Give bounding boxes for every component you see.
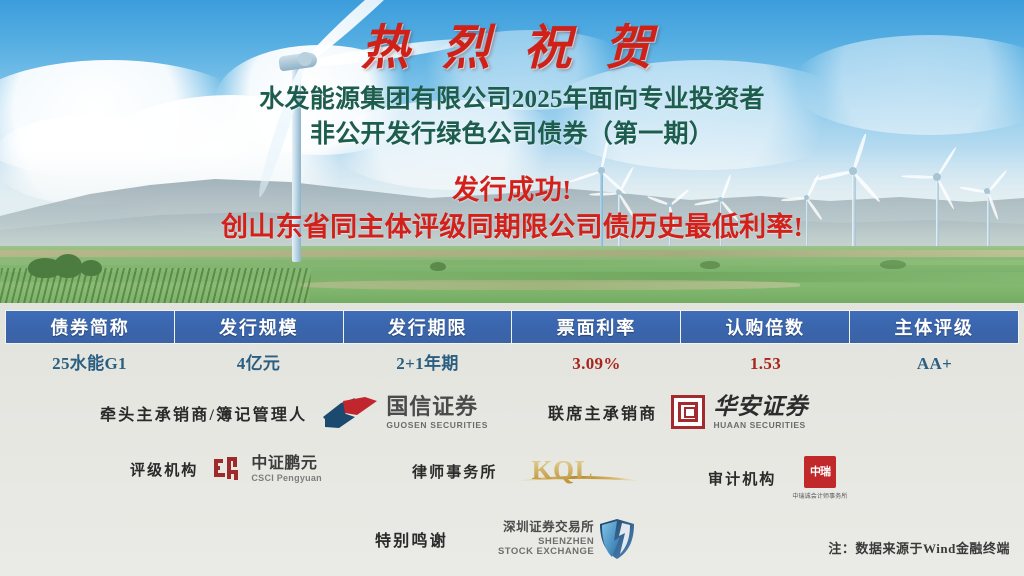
guosen-securities-logo: 国信证券 GUOSEN SECURITIES — [321, 395, 488, 431]
table-header-cell: 票面利率 — [511, 310, 680, 344]
huaan-logo-en: HUAAN SECURITIES — [713, 421, 808, 430]
underwriters-row: 牵头主承销商/簿记管理人 国信证券 GUOSEN SECURITIES — [0, 385, 1024, 437]
table-header-cell: 认购倍数 — [680, 310, 849, 344]
szse-shield-icon — [600, 519, 634, 559]
table-row: 25水能G1 4亿元 2+1年期 3.09% 1.53 AA+ — [5, 344, 1019, 380]
huaan-logo-cn: 华安证券 — [713, 395, 808, 418]
table-header-cell: 主体评级 — [849, 310, 1019, 344]
table-cell-issuer-rating: AA+ — [850, 344, 1019, 380]
zhongruicheng-logo: 中瑞 中瑞诚会计师事务所 — [792, 456, 847, 500]
table-cell-issue-size: 4亿元 — [174, 344, 343, 380]
csci-logo-cn: 中证鹏元 — [251, 456, 322, 472]
special-thanks-group: 特别鸣谢 深圳证券交易所 SHENZHEN STOCK EXCHANGE — [375, 519, 634, 559]
huaan-securities-logo: 华安证券 HUAAN SECURITIES — [671, 395, 808, 430]
kql-logo-text: KQL — [532, 455, 594, 486]
auditor-group: 审计机构 中瑞 中瑞诚会计师事务所 — [708, 456, 848, 500]
bond-subtitle: 水发能源集团有限公司2025年面向专业投资者 非公开发行绿色公司债券（第一期） — [0, 82, 1024, 152]
szse-logo: 深圳证券交易所 SHENZHEN STOCK EXCHANGE — [498, 519, 634, 559]
csci-logo-en: CSCI Pengyuan — [251, 474, 322, 483]
table-header-cell: 发行期限 — [343, 310, 512, 344]
joint-underwriter-label: 联席主承销商 — [548, 400, 657, 424]
szse-logo-en2: STOCK EXCHANGE — [498, 547, 594, 557]
table-cell-coupon-rate: 3.09% — [512, 344, 681, 380]
rating-agency-group: 评级机构 — [130, 456, 322, 483]
joint-underwriter-group: 联席主承销商 华安证券 HUAAN SECURITIES — [548, 395, 808, 430]
guosen-mark-icon — [321, 395, 379, 431]
rating-agency-label: 评级机构 — [130, 459, 198, 480]
page-title: 热 烈 祝 贺 — [0, 8, 1024, 78]
hero-photo-windfarm: 热 烈 祝 贺 水发能源集团有限公司2025年面向专业投资者 非公开发行绿色公司… — [0, 0, 1024, 303]
szse-logo-cn: 深圳证券交易所 — [503, 521, 594, 534]
table-header-cell: 发行规模 — [174, 310, 343, 344]
special-thanks-label: 特别鸣谢 — [375, 527, 448, 551]
data-source-note: 注：数据来源于Wind金融终端 — [828, 538, 1010, 557]
table-header-row: 债券简称 发行规模 发行期限 票面利率 认购倍数 主体评级 — [5, 310, 1019, 344]
csci-mark-icon — [214, 457, 244, 483]
table-cell-tenor: 2+1年期 — [343, 344, 512, 380]
table-cell-subscription-multiple: 1.53 — [681, 344, 850, 380]
auditor-label: 审计机构 — [708, 468, 776, 489]
kql-law-firm-logo: KQL — [514, 456, 644, 486]
info-panel: 债券简称 发行规模 发行期限 票面利率 认购倍数 主体评级 25水能G1 4亿元… — [0, 303, 1024, 576]
guosen-logo-cn: 国信证券 — [386, 396, 488, 418]
table-header-cell: 债券简称 — [5, 310, 174, 344]
huaan-seal-icon — [671, 395, 705, 429]
bond-summary-table: 债券简称 发行规模 发行期限 票面利率 认购倍数 主体评级 25水能G1 4亿元… — [5, 310, 1019, 380]
csci-pengyuan-logo: 中证鹏元 CSCI Pengyuan — [214, 456, 322, 483]
table-cell-bond-name: 25水能G1 — [5, 344, 174, 380]
auditor-seal-icon: 中瑞 — [804, 456, 836, 488]
poster-root: 热 烈 祝 贺 水发能源集团有限公司2025年面向专业投资者 非公开发行绿色公司… — [0, 0, 1024, 576]
lead-underwriter-label: 牵头主承销商/簿记管理人 — [100, 401, 307, 425]
law-firm-label: 律师事务所 — [412, 461, 498, 482]
bond-subtitle-line1: 水发能源集团有限公司2025年面向专业投资者 — [0, 82, 1024, 117]
lead-underwriter-group: 牵头主承销商/簿记管理人 国信证券 GUOSEN SECURITIES — [100, 395, 488, 431]
auditor-seal-text: 中瑞 — [810, 467, 830, 477]
issuance-success-text: 发行成功! — [0, 168, 1024, 207]
guosen-logo-en: GUOSEN SECURITIES — [386, 421, 488, 430]
record-lowest-rate-text: 创山东省同主体评级同期限公司债历史最低利率! — [0, 205, 1024, 244]
auditor-logo-caption: 中瑞诚会计师事务所 — [792, 491, 847, 500]
law-firm-group: 律师事务所 — [412, 456, 644, 486]
bond-subtitle-line2: 非公开发行绿色公司债券（第一期） — [0, 117, 1024, 152]
intermediaries-row: 评级机构 — [0, 448, 1024, 500]
